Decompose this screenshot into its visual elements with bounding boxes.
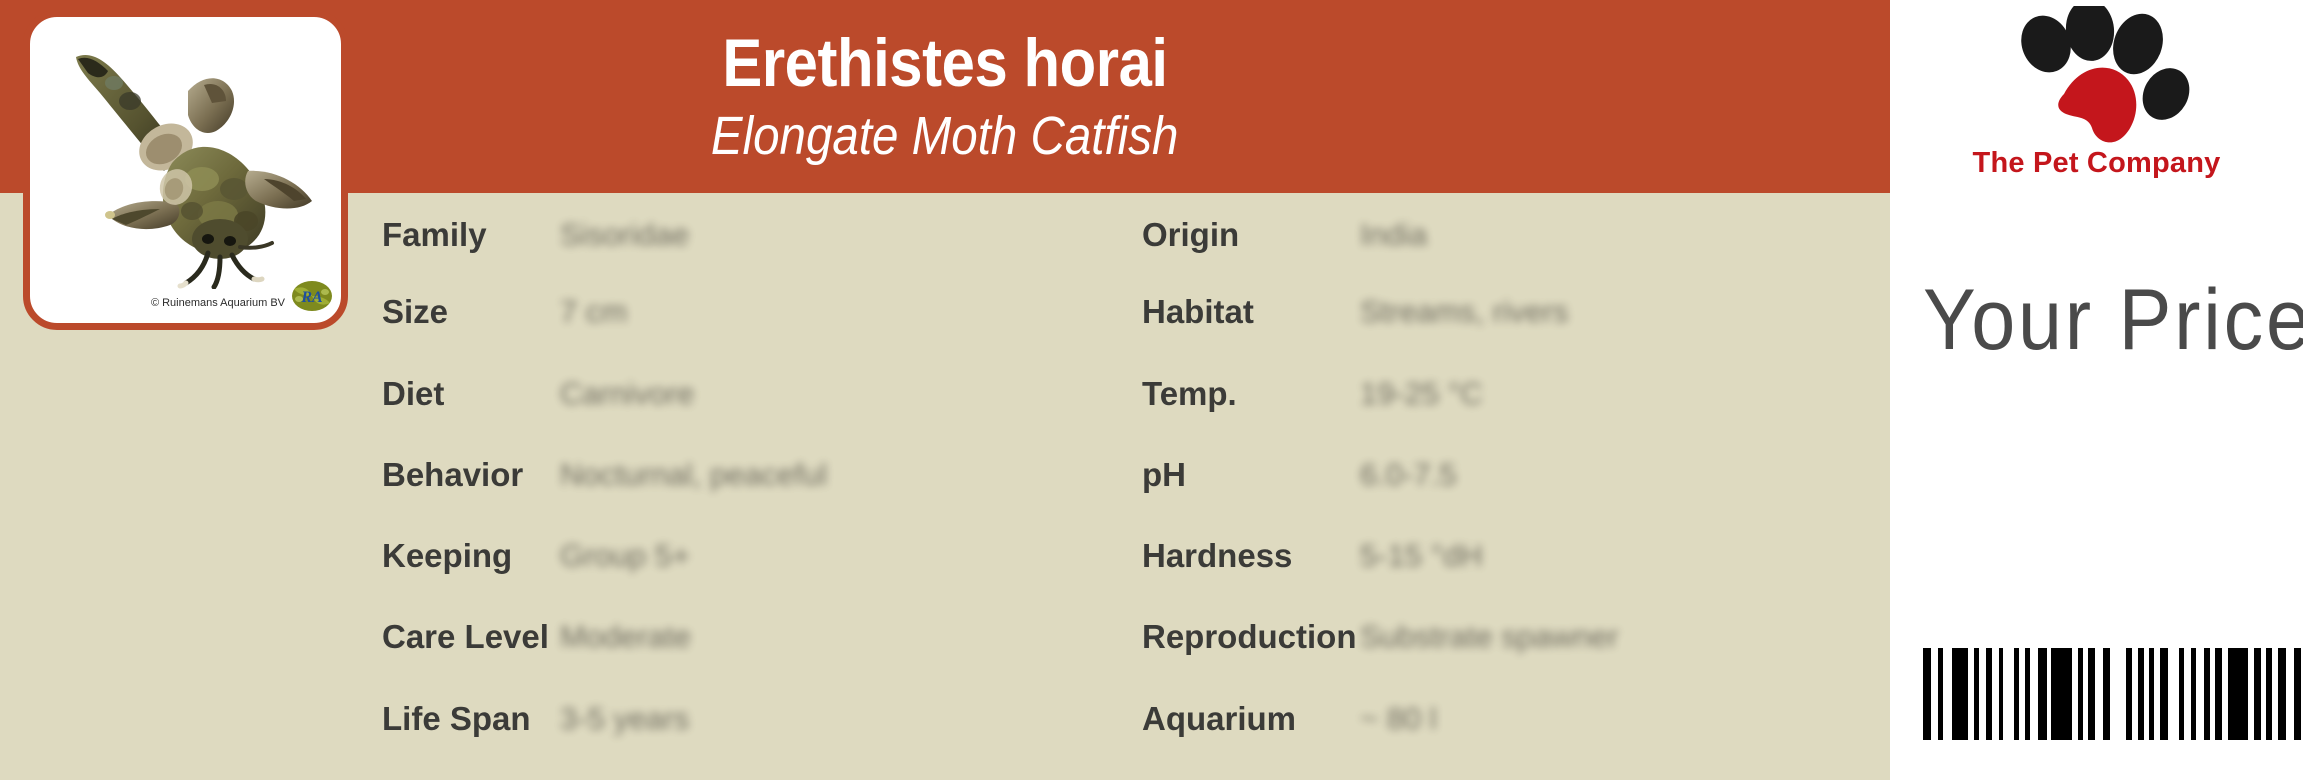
spec-row-aquarium: Aquarium ~ 80 l	[1142, 699, 1882, 739]
spec-row-behavior: Behavior Nocturnal, peaceful	[382, 455, 1122, 495]
barcode-space	[1931, 648, 1938, 740]
brand-name: The Pet Company	[1890, 146, 2303, 180]
spec-value-life-span: 3-5 years	[560, 700, 689, 738]
spec-value-origin: India	[1360, 216, 1427, 254]
spec-label-hardness: Hardness	[1142, 537, 1292, 575]
barcode-bar	[2278, 648, 2286, 740]
spec-label-habitat: Habitat	[1142, 293, 1254, 331]
species-info-panel: Erethistes horai Elongate Moth Catfish	[0, 0, 1890, 780]
spec-label-care-level: Care Level	[382, 618, 549, 656]
spec-value-habitat: Streams, rivers	[1360, 293, 1568, 331]
spec-row-size: Size 7 cm	[382, 292, 1122, 332]
scientific-name: Erethistes horai	[722, 27, 1167, 99]
barcode-bar	[2160, 648, 2168, 740]
spec-value-reproduction: Substrate spawner	[1360, 618, 1618, 656]
barcode-bar	[2294, 648, 2301, 740]
spec-column-left: Family Sisoridae Size 7 cm Diet Carnivor…	[382, 193, 1122, 780]
spec-row-care-level: Care Level Moderate	[382, 617, 1122, 657]
price-panel: The Pet Company Your Price	[1890, 0, 2303, 780]
spec-label-keeping: Keeping	[382, 537, 512, 575]
spec-label-temp: Temp.	[1142, 375, 1237, 413]
your-price-label: Your Price	[1923, 272, 2303, 368]
spec-grid: Family Sisoridae Size 7 cm Diet Carnivor…	[0, 193, 1890, 780]
barcode-space	[1992, 648, 1999, 740]
spec-value-care-level: Moderate	[560, 618, 691, 656]
spec-row-diet: Diet Carnivore	[382, 374, 1122, 414]
barcode-space	[2095, 648, 2103, 740]
spec-value-aquarium: ~ 80 l	[1360, 700, 1437, 738]
spec-row-keeping: Keeping Group 5+	[382, 536, 1122, 576]
barcode-bar	[2215, 648, 2222, 740]
spec-row-ph: pH 6.0-7.5	[1142, 455, 1882, 495]
spec-value-ph: 6.0-7.5	[1360, 456, 1457, 494]
barcode-space	[1979, 648, 1986, 740]
barcode-bar	[2038, 648, 2047, 740]
barcode-space	[1943, 648, 1952, 740]
spec-row-life-span: Life Span 3-5 years	[382, 699, 1122, 739]
barcode-bar	[2051, 648, 2072, 740]
spec-label-life-span: Life Span	[382, 700, 531, 738]
spec-value-size: 7 cm	[560, 293, 627, 331]
barcode-space	[2196, 648, 2204, 740]
spec-label-family: Family	[382, 216, 487, 254]
spec-label-aquarium: Aquarium	[1142, 700, 1296, 738]
spec-row-temp: Temp. 19-25 °C	[1142, 374, 1882, 414]
spec-value-temp: 19-25 °C	[1360, 375, 1483, 413]
paw-print-icon	[2008, 6, 2198, 146]
spec-row-origin: Origin India	[1142, 215, 1882, 255]
spec-label-behavior: Behavior	[382, 456, 523, 494]
spec-row-habitat: Habitat Streams, rivers	[1142, 292, 1882, 332]
barcode-space	[2003, 648, 2014, 740]
spec-row-reproduction: Reproduction Substrate spawner	[1142, 617, 1882, 657]
spec-value-keeping: Group 5+	[560, 537, 690, 575]
barcode-space	[2168, 648, 2179, 740]
barcode-space	[2286, 648, 2294, 740]
barcode-space	[2184, 648, 2191, 740]
product-label-card: Erethistes horai Elongate Moth Catfish	[0, 0, 2303, 780]
spec-value-behavior: Nocturnal, peaceful	[560, 456, 827, 494]
spec-value-diet: Carnivore	[560, 375, 694, 413]
barcode-bar	[1952, 648, 1968, 740]
barcode-bar	[2088, 648, 2095, 740]
barcode-bar	[2228, 648, 2248, 740]
spec-column-right: Origin India Habitat Streams, rivers Tem…	[1142, 193, 1882, 780]
barcode-bar	[1923, 648, 1931, 740]
spec-label-reproduction: Reproduction	[1142, 618, 1356, 656]
spec-row-family: Family Sisoridae	[382, 215, 1122, 255]
barcode-bar	[2103, 648, 2110, 740]
barcode-space	[2110, 648, 2126, 740]
spec-label-diet: Diet	[382, 375, 444, 413]
brand-block: The Pet Company	[1890, 6, 2303, 196]
spec-label-size: Size	[382, 293, 448, 331]
barcode-bar	[2254, 648, 2261, 740]
common-name: Elongate Moth Catfish	[711, 105, 1179, 167]
barcode-space	[2030, 648, 2038, 740]
spec-value-hardness: 5-15 °dH	[1360, 537, 1483, 575]
spec-label-ph: pH	[1142, 456, 1186, 494]
barcode	[1923, 648, 2303, 740]
spec-label-origin: Origin	[1142, 216, 1239, 254]
spec-value-family: Sisoridae	[560, 216, 689, 254]
spec-row-hardness: Hardness 5-15 °dH	[1142, 536, 1882, 576]
